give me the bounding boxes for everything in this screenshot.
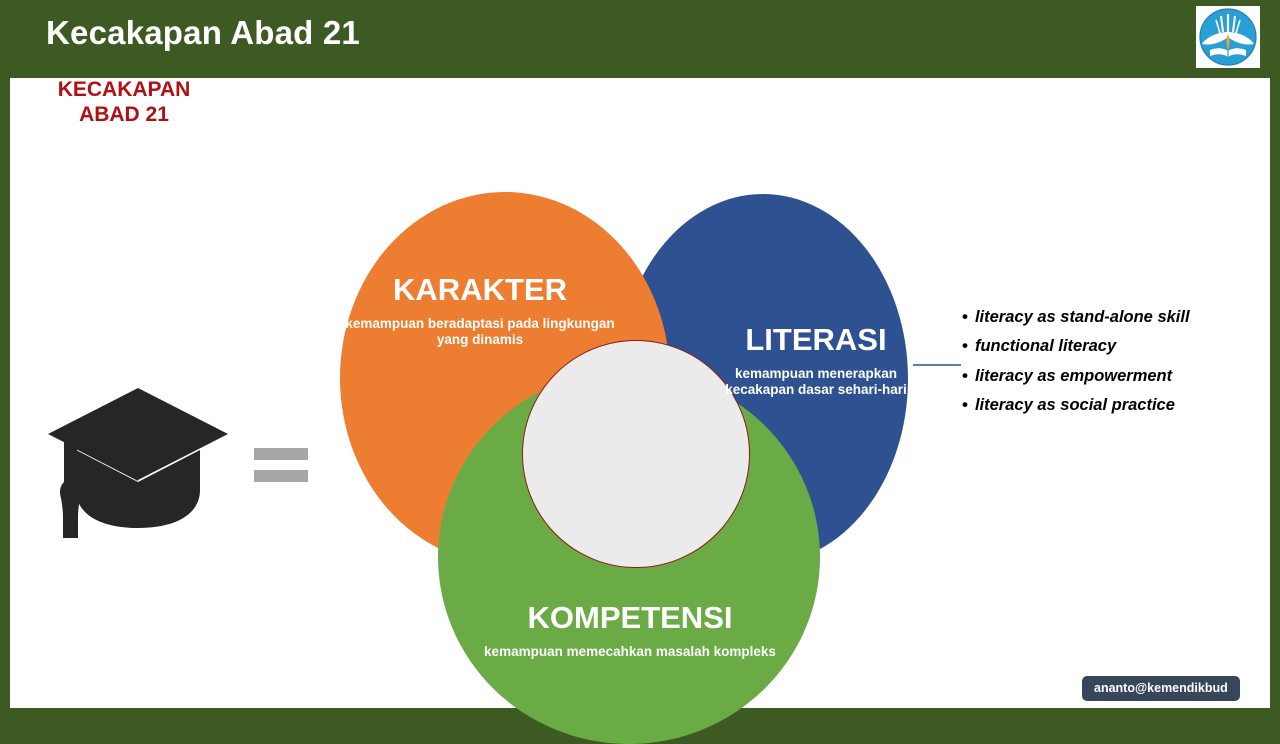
bullet-icon: •	[962, 396, 968, 413]
list-item: • literacy as social practice	[962, 396, 1272, 414]
venn-label-kompetensi: KOMPETENSI kemampuan memecahkan masalah …	[480, 602, 780, 660]
list-item: • functional literacy	[962, 337, 1272, 355]
venn-center-line1: KECAKAPAN	[10, 78, 238, 103]
venn-subtitle-literasi: kemampuan menerapkan kecakapan dasar seh…	[710, 366, 922, 399]
venn-center-line2: ABAD 21	[10, 103, 238, 128]
graduation-cap-icon	[38, 378, 238, 548]
list-item: • literacy as empowerment	[962, 367, 1272, 385]
bullet-icon: •	[962, 308, 968, 325]
kemendikbud-logo	[1196, 6, 1260, 68]
list-item-label: literacy as social practice	[975, 396, 1175, 414]
list-item-label: literacy as empowerment	[975, 367, 1172, 385]
venn-title-karakter: KARAKTER	[340, 274, 620, 307]
venn-label-literasi: LITERASI kemampuan menerapkan kecakapan …	[710, 324, 922, 398]
venn-subtitle-karakter: kemampuan beradaptasi pada lingkungan ya…	[340, 316, 620, 349]
list-item-label: literacy as stand-alone skill	[975, 308, 1190, 326]
equals-bar-bottom	[254, 470, 308, 482]
slide: Kecakapan Abad 21	[0, 0, 1280, 720]
bullet-icon: •	[962, 367, 968, 384]
venn-center-label: KECAKAPAN ABAD 21	[10, 78, 238, 128]
venn-title-kompetensi: KOMPETENSI	[480, 602, 780, 635]
list-item-label: functional literacy	[975, 337, 1116, 355]
slide-header: Kecakapan Abad 21	[0, 0, 1280, 72]
venn-label-karakter: KARAKTER kemampuan beradaptasi pada ling…	[340, 274, 620, 348]
venn-subtitle-kompetensi: kemampuan memecahkan masalah kompleks	[480, 644, 780, 660]
author-watermark: ananto@kemendikbud	[1082, 676, 1240, 701]
tut-wuri-handayani-icon	[1196, 6, 1260, 68]
literacy-callout-list: • literacy as stand-alone skill • functi…	[962, 308, 1272, 426]
list-item: • literacy as stand-alone skill	[962, 308, 1272, 326]
equals-bar-top	[254, 448, 308, 460]
venn-title-literasi: LITERASI	[710, 324, 922, 357]
slide-body: KARAKTER kemampuan beradaptasi pada ling…	[10, 78, 1270, 708]
page-title: Kecakapan Abad 21	[46, 14, 360, 52]
equals-sign-icon	[254, 448, 308, 488]
bullet-icon: •	[962, 337, 968, 354]
